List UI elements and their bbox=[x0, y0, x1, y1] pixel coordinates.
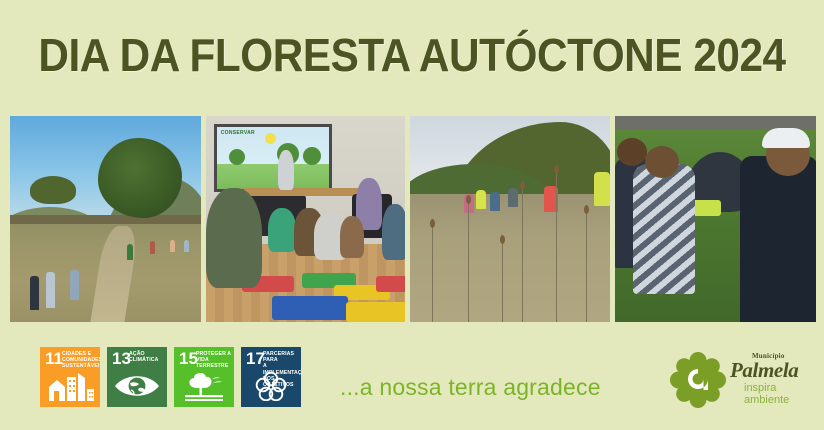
sdg-label: AÇÃO CLIMÁTICA bbox=[129, 351, 165, 363]
large-tree bbox=[98, 138, 182, 218]
thistle-head bbox=[500, 235, 505, 244]
presenter-figure bbox=[278, 150, 294, 190]
floor-mat bbox=[376, 276, 405, 292]
floor-mat bbox=[272, 296, 348, 320]
photo-trail-hike bbox=[10, 116, 201, 322]
logo-name: Palmela bbox=[730, 360, 814, 380]
logo-wordmark: Município Palmela inspira ambiente bbox=[730, 352, 814, 406]
thistle-stalk bbox=[556, 172, 557, 322]
palmela-logo[interactable]: Município Palmela inspira ambiente bbox=[668, 350, 814, 412]
flower-a-icon bbox=[670, 352, 726, 408]
hiker-figure bbox=[150, 241, 155, 254]
thistle-stalk bbox=[522, 188, 523, 322]
thistle-head bbox=[584, 205, 589, 214]
photo-strip: CONSERVAR bbox=[10, 116, 816, 322]
slide-tree bbox=[229, 149, 245, 165]
hiker-figure bbox=[46, 272, 55, 308]
stone-wall bbox=[10, 215, 201, 224]
poster-canvas: DIA DA FLORESTA AUTÓCTONE 2024 bbox=[0, 0, 824, 430]
sdg-icon-row: 11 CIDADES E COMUNIDADES SUSTENTÁVEIS bbox=[40, 347, 301, 407]
interlocking-circles-icon bbox=[241, 370, 301, 402]
photo-classroom-session: CONSERVAR bbox=[206, 116, 405, 322]
sdg-goal-13[interactable]: 13 AÇÃO CLIMÁTICA bbox=[107, 347, 167, 407]
child-figure bbox=[740, 156, 816, 322]
child-figure bbox=[340, 216, 364, 258]
child-figure bbox=[382, 204, 405, 260]
child-figure bbox=[206, 188, 262, 288]
sdg-goal-17[interactable]: 17 PARCERIAS PARA A IMPLEMENTAÇÃO DOS OB… bbox=[241, 347, 301, 407]
sdg-goal-15[interactable]: 15 PROTEGER A VIDA TERRESTRE bbox=[174, 347, 234, 407]
walker-figure bbox=[476, 190, 486, 209]
hiker-figure bbox=[127, 244, 133, 260]
small-tree bbox=[30, 176, 76, 204]
sdg-goal-11[interactable]: 11 CIDADES E COMUNIDADES SUSTENTÁVEIS bbox=[40, 347, 100, 407]
thistle-head bbox=[430, 219, 435, 228]
thistle-stalk bbox=[468, 202, 469, 322]
thistle-stalk bbox=[502, 242, 503, 322]
sdg-label: CIDADES E COMUNIDADES SUSTENTÁVEIS bbox=[62, 351, 98, 370]
walker-figure bbox=[594, 172, 610, 206]
logo-slogan: inspira ambiente bbox=[744, 382, 814, 406]
sdg-label: PROTEGER A VIDA TERRESTRE bbox=[196, 351, 232, 370]
child-figure bbox=[268, 208, 296, 252]
thistle-stalk bbox=[586, 212, 587, 322]
city-buildings-icon bbox=[40, 370, 100, 402]
hiker-figure bbox=[170, 240, 175, 252]
tree-birds-icon bbox=[174, 370, 234, 402]
tagline: ...a nossa terra agradece bbox=[340, 374, 601, 401]
photo-thistle-field-walk bbox=[410, 116, 611, 322]
eye-globe-icon bbox=[107, 370, 167, 402]
floor-mat bbox=[346, 302, 405, 322]
thistle-head bbox=[520, 181, 525, 190]
thistle-head bbox=[466, 195, 471, 204]
sun-shape bbox=[265, 133, 276, 144]
page-title: DIA DA FLORESTA AUTÓCTONE 2024 bbox=[33, 28, 791, 82]
child-figure bbox=[633, 164, 695, 294]
sdg-number: 11 bbox=[45, 350, 63, 367]
dry-field bbox=[410, 194, 611, 322]
walker-figure bbox=[508, 188, 518, 207]
hiker-figure bbox=[184, 240, 189, 252]
slide-tree bbox=[303, 147, 321, 165]
hiker-figure bbox=[30, 276, 39, 310]
walker-figure bbox=[490, 192, 500, 211]
slide-caption: CONSERVAR bbox=[221, 130, 255, 136]
hiker-figure bbox=[70, 270, 79, 300]
projection-screen: CONSERVAR bbox=[214, 124, 332, 192]
white-cap bbox=[762, 128, 810, 148]
thistle-head bbox=[554, 165, 559, 174]
thistle-stalk bbox=[432, 226, 433, 322]
photo-tree-planting bbox=[615, 116, 816, 322]
